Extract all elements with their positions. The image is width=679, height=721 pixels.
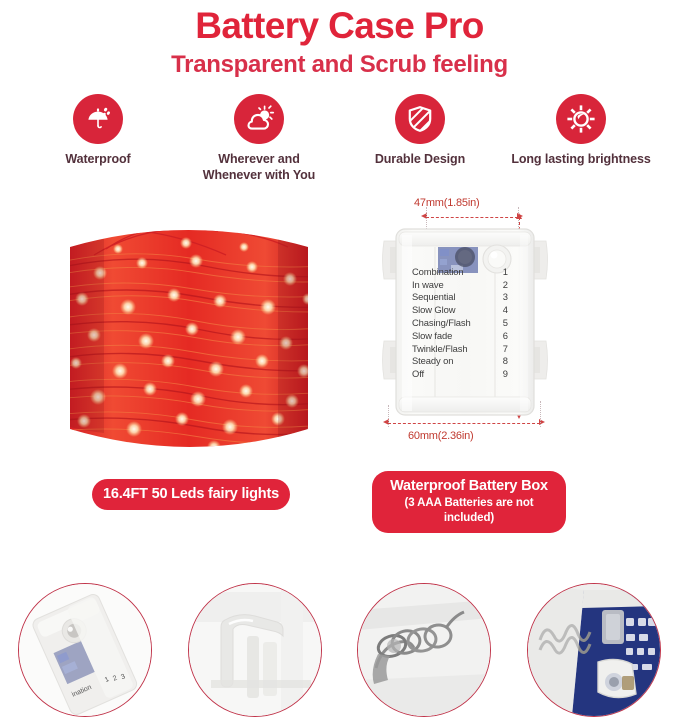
cloud-sun-icon — [234, 94, 284, 144]
mode-name: Off — [412, 369, 424, 378]
feature-label: Long lasting brightness — [501, 152, 661, 167]
mode-row: Twinkle/Flash 7 — [412, 344, 510, 353]
mode-number: 7 — [503, 344, 510, 353]
mode-number: 4 — [503, 305, 510, 314]
mode-row: Steady on 8 — [412, 356, 510, 365]
feature-anywhere: Wherever and Whenever with You — [179, 94, 339, 183]
header: Battery Case Pro Transparent and Scrub f… — [0, 0, 679, 78]
mode-name: In wave — [412, 280, 444, 289]
feature-durable: Durable Design — [340, 94, 500, 167]
mode-row: Off 9 — [412, 369, 510, 378]
mode-number: 2 — [503, 280, 510, 289]
mode-number: 6 — [503, 331, 510, 340]
mode-row: Chasing/Flash 5 — [412, 318, 510, 327]
mode-name: Steady on — [412, 356, 453, 365]
mode-number: 5 — [503, 318, 510, 327]
battery-box-diagram: 47mm(1.85in) 60mm(2.36in) 68mm(2.68in) — [380, 191, 580, 456]
feature-label: Durable Design — [340, 152, 500, 167]
umbrella-rain-icon — [73, 94, 123, 144]
mode-row: Slow fade 6 — [412, 331, 510, 340]
detail-thumbnail-row: ination 1 2 3 — [0, 578, 679, 721]
mode-list: Combination 1 In wave 2 Sequential 3 Slo… — [412, 267, 510, 382]
right-product-badge: Waterproof Battery Box (3 AAA Batteries … — [372, 471, 566, 533]
mode-name: Chasing/Flash — [412, 318, 471, 327]
feature-label: Wherever and Whenever with You — [179, 152, 339, 183]
feature-row: Waterproof Wherever and Whenever with Yo… — [0, 78, 679, 183]
mode-name: Twinkle/Flash — [412, 344, 468, 353]
mode-row: Slow Glow 4 — [412, 305, 510, 314]
circuit-board-detail-thumb[interactable] — [527, 583, 661, 717]
fairy-lights-coil-image — [46, 203, 336, 473]
shield-icon — [395, 94, 445, 144]
feature-brightness: Long lasting brightness — [501, 94, 661, 167]
battery-box-angled-thumb[interactable]: ination 1 2 3 — [18, 583, 152, 717]
mode-name: Combination — [412, 267, 464, 276]
mode-row: Sequential 3 — [412, 292, 510, 301]
page-title: Battery Case Pro — [0, 6, 679, 46]
left-product-badge: 16.4FT 50 Leds fairy lights — [92, 479, 290, 510]
latch-clasp-detail-thumb[interactable] — [188, 583, 322, 717]
mode-number: 3 — [503, 292, 510, 301]
product-showcase: 16.4FT 50 Leds fairy lights 47mm(1.85in)… — [0, 183, 679, 543]
mode-row: Combination 1 — [412, 267, 510, 276]
mode-name: Slow fade — [412, 331, 452, 340]
left-badge-label: 16.4FT 50 Leds fairy lights — [103, 486, 279, 502]
mode-name: Slow Glow — [412, 305, 455, 314]
right-badge-title: Waterproof Battery Box — [378, 477, 560, 495]
right-badge-note: (3 AAA Batteries are not included) — [378, 496, 560, 526]
page-subtitle: Transparent and Scrub feeling — [0, 52, 679, 78]
mode-number: 8 — [503, 356, 510, 365]
feature-waterproof: Waterproof — [18, 94, 178, 167]
sun-brightness-icon — [556, 94, 606, 144]
mode-row: In wave 2 — [412, 280, 510, 289]
mode-name: Sequential — [412, 292, 455, 301]
mode-number: 9 — [503, 369, 510, 378]
feature-label: Waterproof — [18, 152, 178, 167]
spring-contact-detail-thumb[interactable] — [357, 583, 491, 717]
mode-number: 1 — [503, 267, 510, 276]
